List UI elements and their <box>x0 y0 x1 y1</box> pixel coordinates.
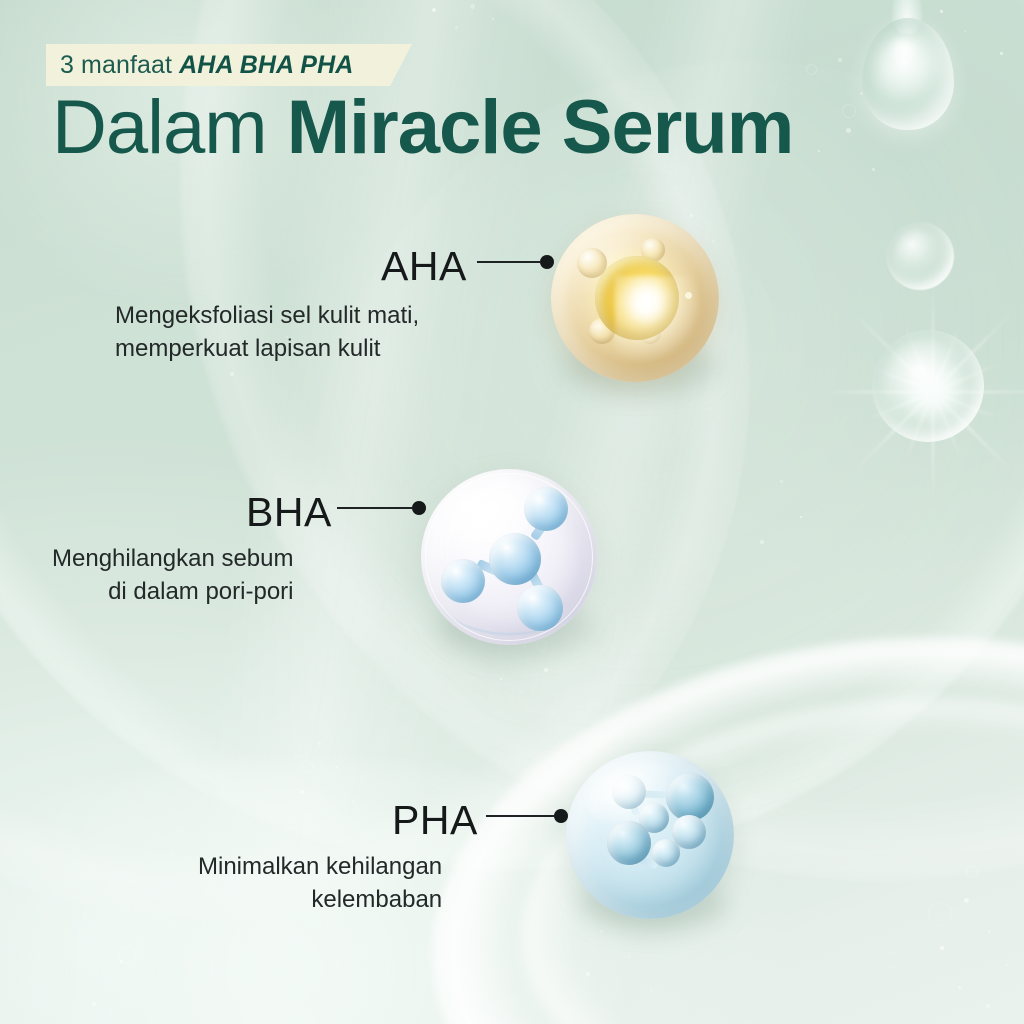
bokeh-dot <box>92 1002 96 1006</box>
tagline-prefix: 3 manfaat <box>60 51 179 79</box>
promo-banner-canvas: 3 manfaat AHA BHA PHA Dalam Miracle Seru… <box>0 0 1024 1024</box>
bha-connector-dot <box>412 501 426 515</box>
bokeh-dot <box>1000 52 1003 55</box>
tagline-text: 3 manfaat AHA BHA PHA <box>46 51 353 80</box>
bokeh-dot <box>800 516 802 518</box>
bha-desc-line-2: di dalam pori-pori <box>52 575 294 608</box>
pha-label: PHA <box>392 797 478 844</box>
aha-label: AHA <box>381 243 467 290</box>
bokeh-dot <box>818 150 820 152</box>
aha-description: Mengeksfoliasi sel kulit mati, memperkua… <box>115 299 419 365</box>
bokeh-dot <box>650 990 652 992</box>
tagline-acids: AHA BHA PHA <box>179 51 353 79</box>
bokeh-dot <box>940 10 943 13</box>
pha-desc-line-2: kelembaban <box>198 883 442 916</box>
flare-bubble-icon <box>872 330 984 442</box>
pha-atom-bottom <box>652 839 680 867</box>
title-light-part: Dalam <box>52 85 287 170</box>
bokeh-ring <box>118 946 136 964</box>
bokeh-dot <box>940 946 944 950</box>
bokeh-ring <box>928 902 952 926</box>
bokeh-dot <box>986 1004 990 1008</box>
tagline-banner: 3 manfaat AHA BHA PHA <box>46 44 353 86</box>
bokeh-dot <box>470 4 475 9</box>
pha-atom-bottom-left <box>607 821 651 865</box>
bokeh-ring <box>300 760 313 773</box>
pha-connector-line <box>486 815 554 817</box>
bokeh-dot <box>432 8 436 12</box>
bokeh-dot <box>600 930 603 933</box>
bokeh-dot <box>148 990 150 992</box>
bokeh-dot <box>780 480 783 483</box>
pha-blue-sphere <box>566 751 734 919</box>
bha-pearl-sphere <box>421 469 597 645</box>
bokeh-dot <box>352 800 354 802</box>
bokeh-ring <box>806 64 817 75</box>
bokeh-dot <box>964 30 966 32</box>
bokeh-dot <box>318 742 321 745</box>
aha-connector <box>477 255 554 269</box>
bokeh-dot <box>1006 964 1008 966</box>
aha-desc-line-1: Mengeksfoliasi sel kulit mati, <box>115 302 419 329</box>
bha-connector-line <box>337 507 412 509</box>
bha-desc-line-1: Menghilangkan sebum <box>52 545 294 572</box>
pha-connector <box>486 809 568 823</box>
bokeh-dot <box>544 668 548 672</box>
aha-connector-line <box>477 261 540 263</box>
aha-gold-sphere <box>551 214 719 382</box>
water-droplet-icon <box>862 18 954 130</box>
bha-connector <box>337 501 426 515</box>
bokeh-dot <box>958 986 961 989</box>
bha-description: Menghilangkan sebum di dalam pori-pori <box>52 542 294 608</box>
bokeh-dot <box>838 58 842 62</box>
bha-label: BHA <box>246 489 332 536</box>
droplet-highlight <box>886 36 922 62</box>
bokeh-dot <box>120 960 123 963</box>
aha-desc-line-2: memperkuat lapisan kulit <box>115 332 419 365</box>
aha-light-burst <box>615 276 723 384</box>
bokeh-dot <box>455 26 458 29</box>
pha-desc-line-1: Minimalkan kehilangan <box>198 853 442 880</box>
page-title: Dalam Miracle Serum <box>52 88 793 168</box>
small-bubble-icon <box>886 222 954 290</box>
bokeh-dot <box>336 766 338 768</box>
bokeh-dot <box>846 128 851 133</box>
aha-connector-dot <box>540 255 554 269</box>
bokeh-dot <box>300 790 304 794</box>
bokeh-dot <box>230 372 234 376</box>
bokeh-dot <box>628 956 630 958</box>
bokeh-ring <box>842 104 856 118</box>
bokeh-dot <box>964 898 969 903</box>
bokeh-dot <box>586 972 590 976</box>
bokeh-dot <box>760 540 764 544</box>
pha-description: Minimalkan kehilangan kelembaban <box>198 850 442 916</box>
bokeh-ring <box>966 866 978 878</box>
bokeh-ring <box>884 952 900 968</box>
title-bold-part: Miracle Serum <box>287 85 794 170</box>
bokeh-dot <box>500 678 502 680</box>
bokeh-dot <box>988 930 991 933</box>
pha-connector-dot <box>554 809 568 823</box>
bokeh-dot <box>492 18 494 20</box>
bokeh-dot <box>872 168 875 171</box>
